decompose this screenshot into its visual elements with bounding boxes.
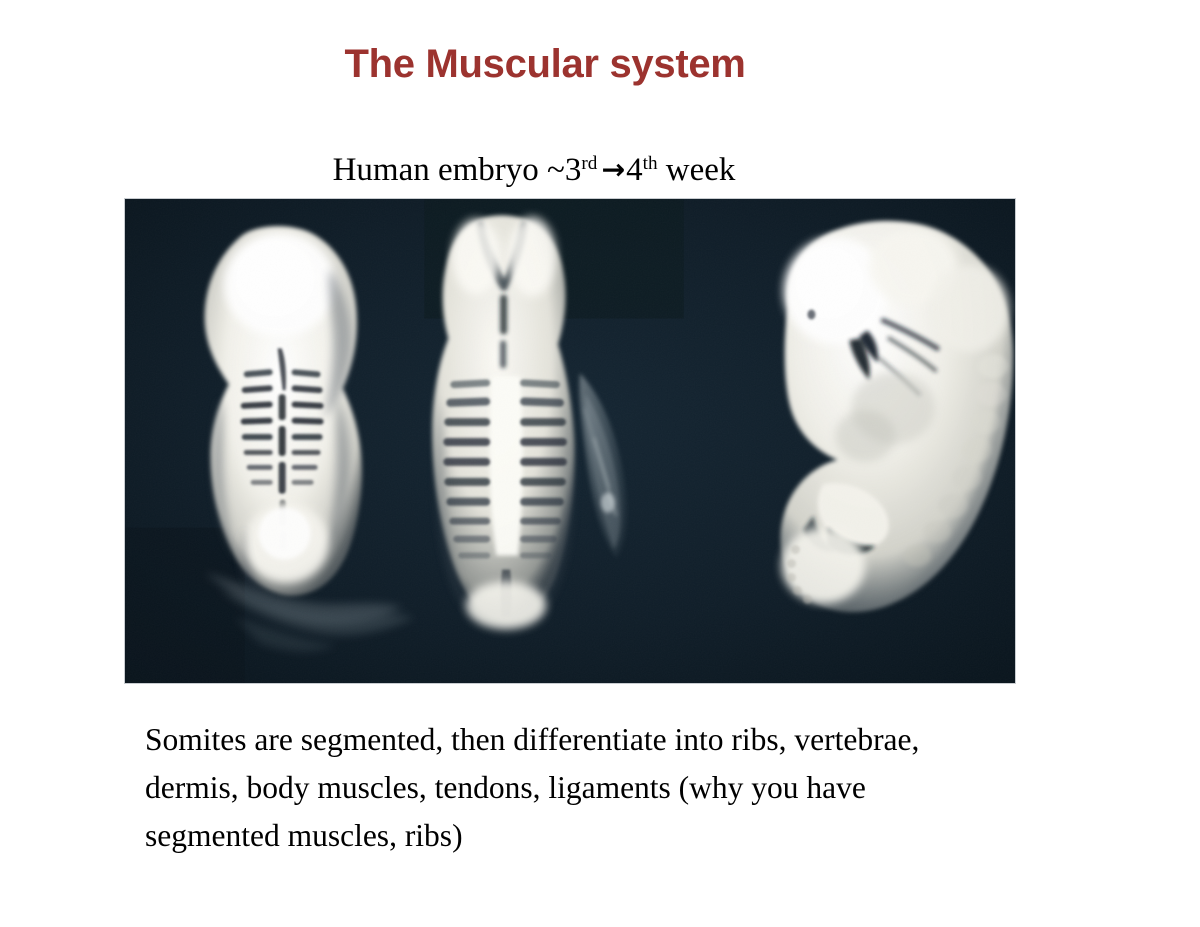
subtitle-superscript-rd: rd xyxy=(581,153,597,174)
page-title: The Muscular system xyxy=(0,42,1090,87)
subtitle-suffix: week xyxy=(658,152,736,188)
subtitle-superscript-th: th xyxy=(643,153,658,174)
caption-line-1: Somites are segmented, then differentiat… xyxy=(145,716,1135,764)
caption-line-2: dermis, body muscles, tendons, ligaments… xyxy=(145,764,1135,812)
embryo-photo-plate xyxy=(124,198,1016,684)
caption-block: Somites are segmented, then differentiat… xyxy=(145,716,1135,860)
embryo-figure-svg xyxy=(125,199,1015,683)
subtitle-prefix: Human embryo ~3 xyxy=(333,152,582,188)
caption-line-3: segmented muscles, ribs) xyxy=(145,812,1135,860)
film-grain-overlay xyxy=(125,199,1015,683)
subtitle-middle: 4 xyxy=(626,152,643,188)
subtitle: Human embryo ~3rd→4th week xyxy=(0,152,1068,189)
arrow-icon: → xyxy=(601,153,625,186)
